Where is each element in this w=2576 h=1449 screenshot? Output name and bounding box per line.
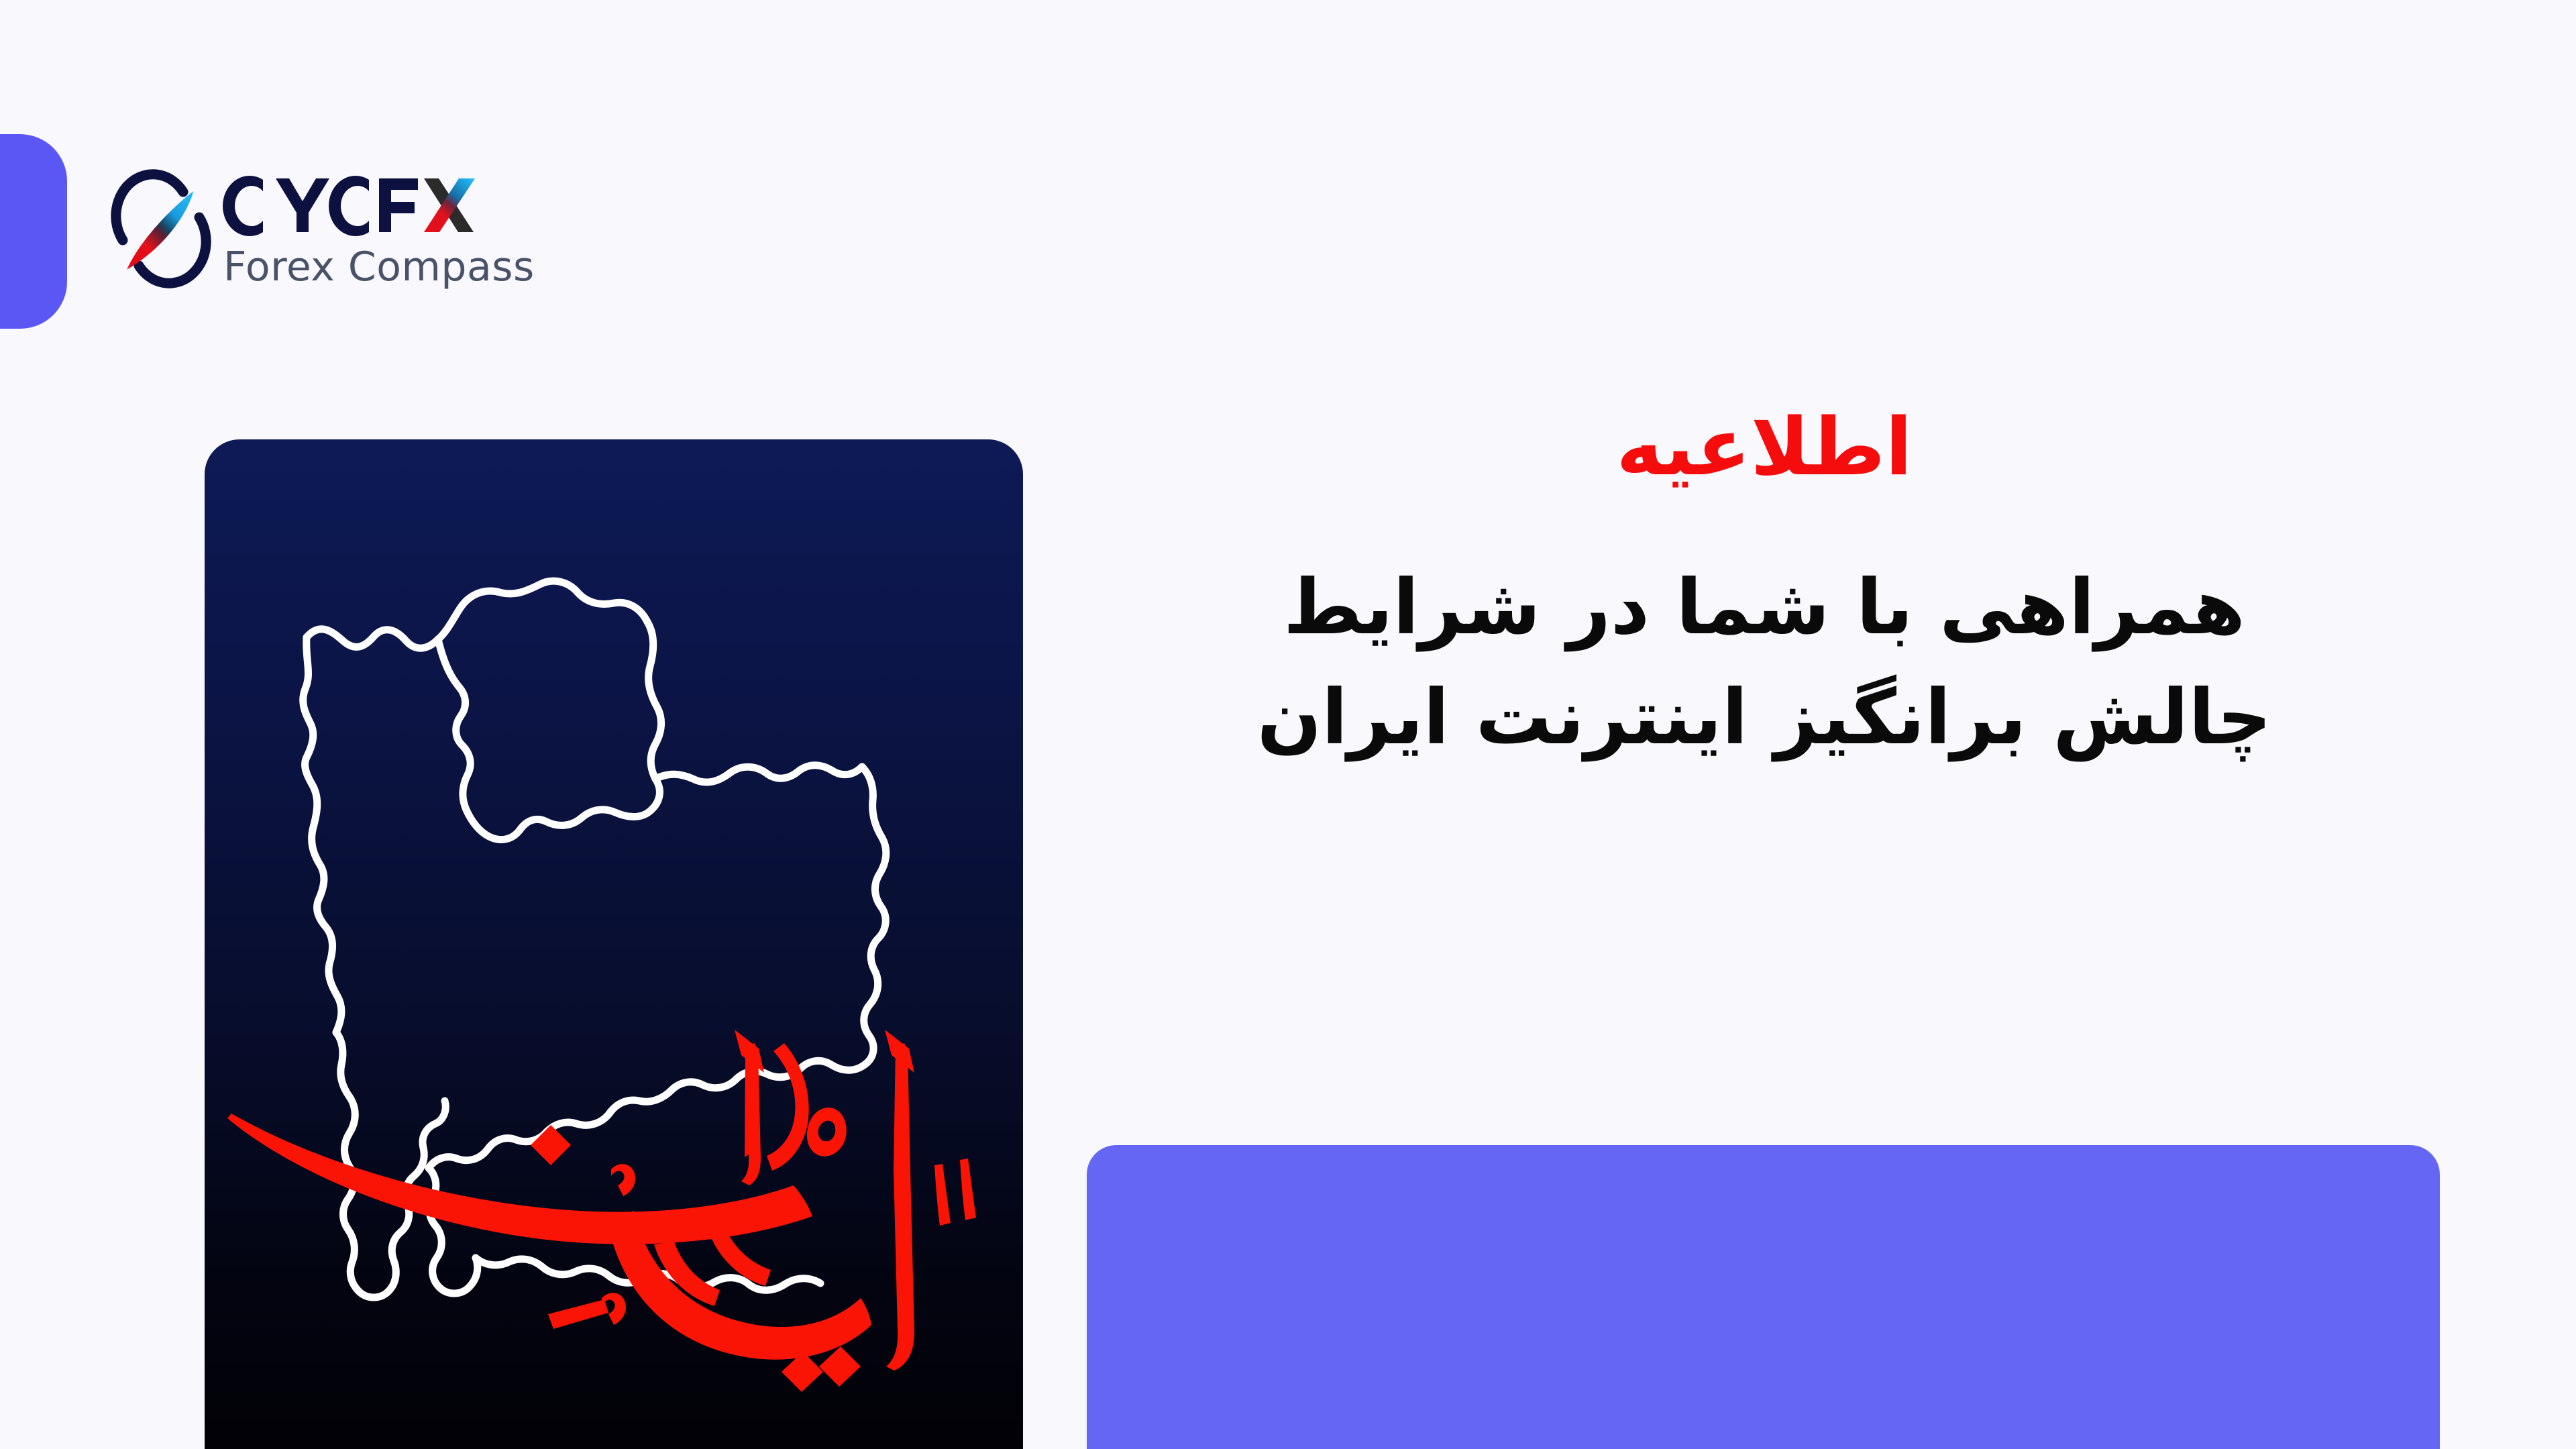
announcement-block: اطلاعیه همراهی با شما در شرایط چالش بران… xyxy=(1087,402,2442,773)
brand-text-block: Forex Compass xyxy=(221,169,535,287)
announcement-kicker: اطلاعیه xyxy=(1087,402,2442,491)
brand-logo[interactable]: Forex Compass xyxy=(111,168,535,288)
left-edge-accent-tab xyxy=(0,134,67,329)
announcement-headline: همراهی با شما در شرایط چالش برانگیز اینت… xyxy=(1087,553,2442,773)
headline-line-1: همراهی با شما در شرایط xyxy=(1087,553,2442,663)
cycfx-wordmark xyxy=(221,169,482,243)
brand-tagline: Forex Compass xyxy=(223,247,535,287)
bottom-purple-panel xyxy=(1087,1145,2440,1449)
iran-map-artwork xyxy=(205,439,1023,1449)
banner-canvas: Forex Compass xyxy=(0,0,2576,1449)
compass-needle-icon xyxy=(111,168,211,288)
iran-map-card xyxy=(205,439,1023,1449)
headline-line-2: چالش برانگیز اینترنت ایران xyxy=(1087,663,2442,773)
